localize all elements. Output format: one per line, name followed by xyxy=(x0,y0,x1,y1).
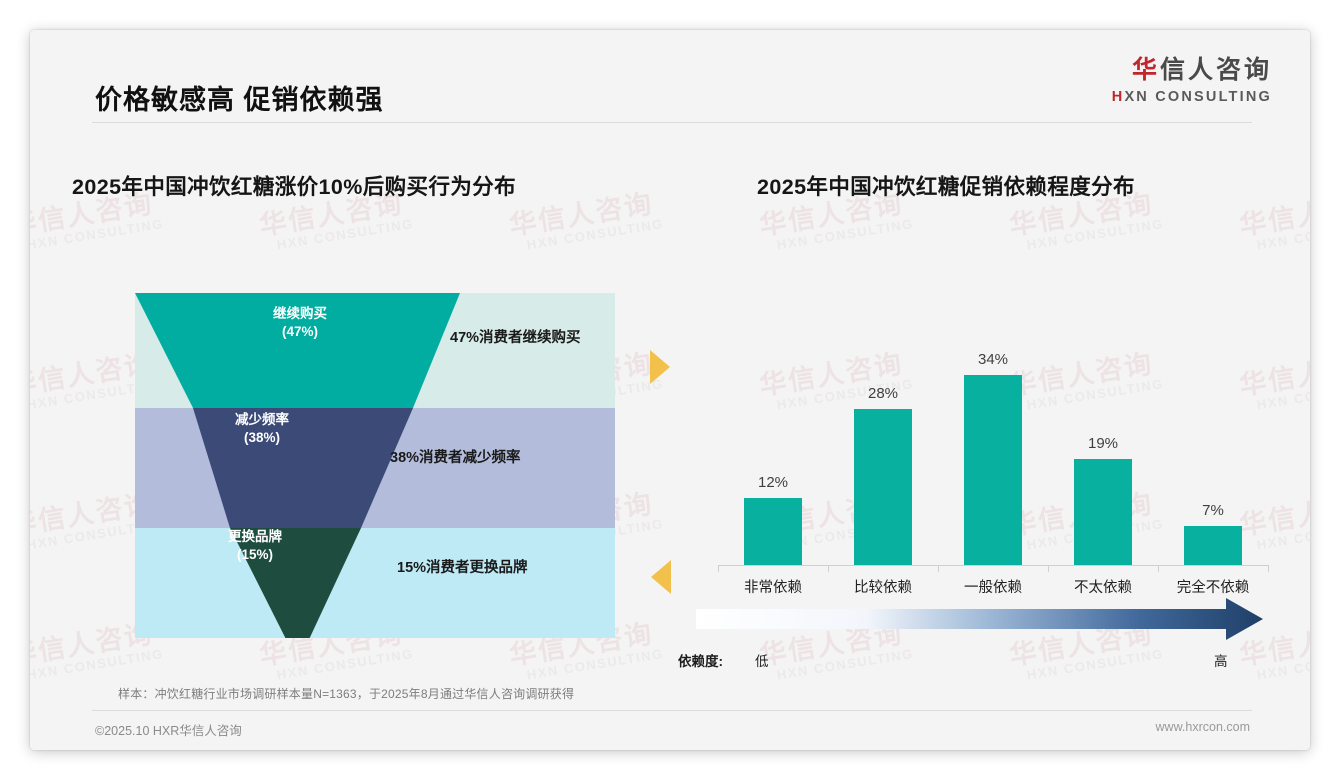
watermark-english: HXN CONSULTING xyxy=(276,646,415,682)
dependency-gradient-legend: 依赖度: 低 高 xyxy=(678,596,1278,676)
watermark-english: HXN CONSULTING xyxy=(1256,216,1310,252)
bar-category-label: 比较依赖 xyxy=(828,576,938,597)
watermark-english: HXN CONSULTING xyxy=(30,646,165,682)
watermark: 华信人咨询HXN CONSULTING xyxy=(508,188,665,255)
logo-english: HXN CONSULTING xyxy=(1112,90,1272,105)
x-axis-ticks xyxy=(718,565,1268,572)
bar-value-label: 34% xyxy=(978,351,1008,368)
bar-column[interactable]: 19% xyxy=(1048,300,1158,565)
bar-value-label: 28% xyxy=(868,385,898,402)
bar-rect[interactable] xyxy=(744,498,802,565)
funnel-svg xyxy=(105,263,615,638)
funnel-chart: 继续购买 (47%) 减少频率 (38%) 更换品牌 (15%) 47%消费者继… xyxy=(105,263,615,638)
funnel-band-label-0: 47%消费者继续购买 xyxy=(450,326,581,347)
bar-value-label: 12% xyxy=(758,474,788,491)
funnel-band-background-2 xyxy=(135,528,615,638)
right-triangle-icon xyxy=(650,350,670,384)
funnel-stage-value-1: (38%) xyxy=(244,430,280,445)
legend-title: 依赖度: xyxy=(678,650,723,670)
logo-english-rest: XN CONSULTING xyxy=(1124,89,1272,105)
logo-english-accent: H xyxy=(1112,89,1125,105)
watermark-english: HXN CONSULTING xyxy=(526,646,665,682)
x-axis-tick xyxy=(828,565,829,572)
bar-column[interactable]: 12% xyxy=(718,300,828,565)
bar-value-label: 19% xyxy=(1088,435,1118,452)
funnel-stage-name-0: 继续购买 xyxy=(273,306,327,321)
watermark-english: HXN CONSULTING xyxy=(1026,216,1165,252)
header-divider xyxy=(92,122,1252,123)
company-logo: 华信人咨询 HXN CONSULTING xyxy=(1112,58,1272,105)
x-axis-tick xyxy=(1158,565,1159,572)
x-axis-tick xyxy=(1268,565,1269,572)
x-axis-category-labels: 非常依赖比较依赖一般依赖不太依赖完全不依赖 xyxy=(718,576,1268,597)
watermark-english: HXN CONSULTING xyxy=(30,216,165,252)
bar-rect[interactable] xyxy=(964,375,1022,565)
funnel-stage-value-0: (47%) xyxy=(282,324,318,339)
left-triangle-icon xyxy=(651,560,671,594)
funnel-stage-label-2: 更换品牌 (15%) xyxy=(228,528,282,564)
funnel-stage-value-2: (15%) xyxy=(237,547,273,562)
legend-high-label: 高 xyxy=(1214,650,1228,670)
website-url: www.hxrcon.com xyxy=(1156,720,1250,734)
logo-chinese-accent: 华 xyxy=(1132,56,1160,84)
funnel-stage-label-0: 继续购买 (47%) xyxy=(273,305,327,341)
funnel-stage-label-1: 减少频率 (38%) xyxy=(235,411,289,447)
bar-category-label: 非常依赖 xyxy=(718,576,828,597)
watermark-chinese: 华信人咨询 xyxy=(1238,188,1310,240)
left-panel-title: 2025年中国冲饮红糖涨价10%后购买行为分布 xyxy=(72,170,516,201)
funnel-band-label-2: 15%消费者更换品牌 xyxy=(397,556,528,577)
x-axis-tick xyxy=(938,565,939,572)
x-axis-tick xyxy=(1048,565,1049,572)
watermark-english: HXN CONSULTING xyxy=(526,216,665,252)
bar-category-label: 不太依赖 xyxy=(1048,576,1158,597)
slide-header: 价格敏感高 促销依赖强 华信人咨询 HXN CONSULTING xyxy=(30,30,1310,100)
bar-rect[interactable] xyxy=(1184,526,1242,565)
logo-chinese-rest: 信人咨询 xyxy=(1160,56,1272,84)
dependency-bar-chart: 12%28%34%19%7% 非常依赖比较依赖一般依赖不太依赖完全不依赖 xyxy=(690,300,1280,600)
x-axis-tick xyxy=(718,565,719,572)
right-panel-title: 2025年中国冲饮红糖促销依赖程度分布 xyxy=(757,170,1135,201)
page-title: 价格敏感高 促销依赖强 xyxy=(95,78,384,117)
logo-chinese: 华信人咨询 xyxy=(1112,58,1272,83)
watermark-chinese: 华信人咨询 xyxy=(508,188,663,240)
funnel-band-label-1: 38%消费者减少频率 xyxy=(390,446,521,467)
source-footnote: 样本：冲饮红糖行业市场调研样本量N=1363，于2025年8月通过华信人咨询调研… xyxy=(118,685,574,702)
bar-category-label: 一般依赖 xyxy=(938,576,1048,597)
bar-rect[interactable] xyxy=(1074,459,1132,565)
watermark: 华信人咨询HXN CONSULTING xyxy=(1238,188,1310,255)
funnel-stage-name-1: 减少频率 xyxy=(235,412,289,427)
legend-low-label: 低 xyxy=(755,650,769,670)
bar-plot-area: 12%28%34%19%7% xyxy=(718,300,1268,565)
slide-canvas: 华信人咨询HXN CONSULTING华信人咨询HXN CONSULTING华信… xyxy=(30,30,1310,750)
funnel-stage-name-2: 更换品牌 xyxy=(228,529,282,544)
bar-column[interactable]: 28% xyxy=(828,300,938,565)
watermark-english: HXN CONSULTING xyxy=(276,216,415,252)
bar-value-label: 7% xyxy=(1202,502,1224,519)
footer-divider xyxy=(92,710,1252,711)
gradient-arrow-icon xyxy=(678,596,1278,646)
copyright-text: ©2025.10 HXR华信人咨询 xyxy=(95,720,242,739)
bar-rect[interactable] xyxy=(854,409,912,565)
bar-column[interactable]: 7% xyxy=(1158,300,1268,565)
watermark-english: HXN CONSULTING xyxy=(776,216,915,252)
bar-column[interactable]: 34% xyxy=(938,300,1048,565)
bar-category-label: 完全不依赖 xyxy=(1158,576,1268,597)
